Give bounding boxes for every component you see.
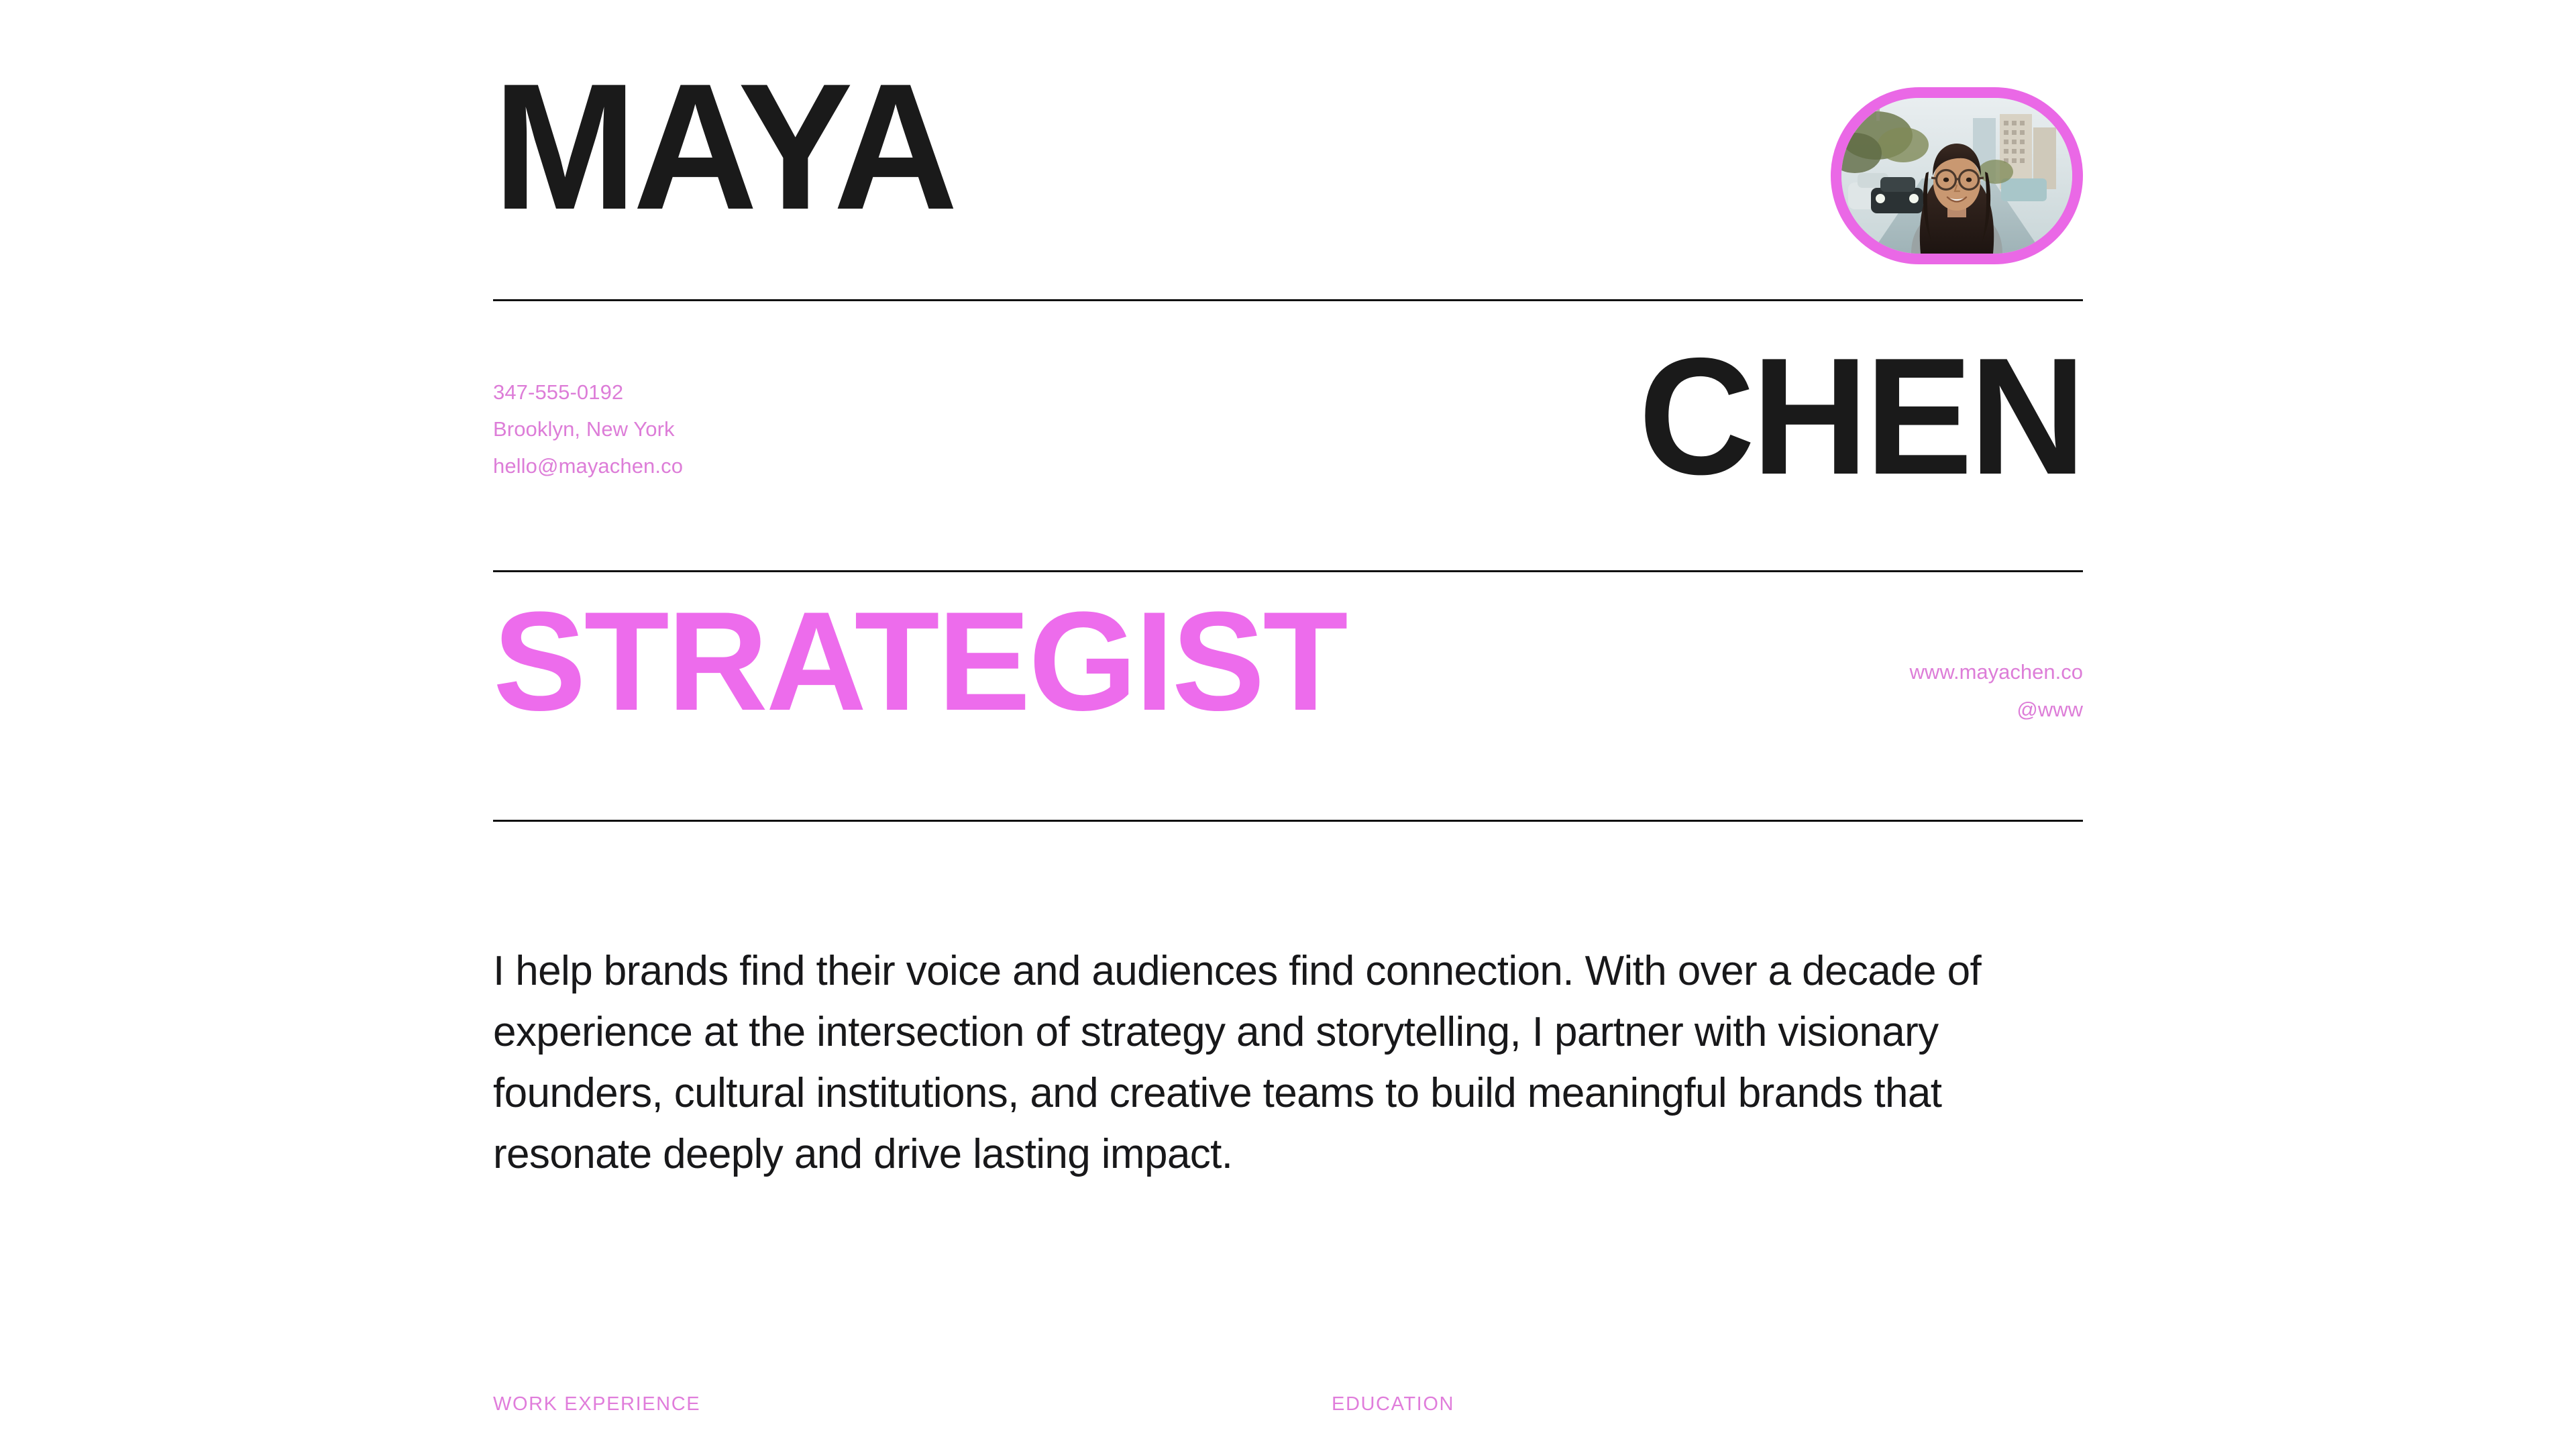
avatar — [1831, 87, 2083, 264]
section-heading-row: WORK EXPERIENCE EDUCATION — [493, 1391, 2083, 1424]
contact-phone[interactable]: 347-555-0192 — [493, 374, 683, 411]
contact-email[interactable]: hello@mayachen.co — [493, 447, 683, 484]
web-links: www.mayachen.co @www — [1910, 653, 2083, 729]
avatar-photo-illustration — [1841, 98, 2072, 254]
page-title-first-name: MAYA — [493, 46, 954, 247]
divider-rule-3 — [493, 820, 2083, 822]
contact-details: 347-555-0192 Brooklyn, New York hello@ma… — [493, 374, 683, 484]
section-heading-work-experience: WORK EXPERIENCE — [493, 1391, 700, 1417]
section-heading-education: EDUCATION — [1332, 1391, 1454, 1417]
resume-page: MAYA — [0, 0, 2576, 1449]
contact-location: Brooklyn, New York — [493, 411, 683, 447]
page-title-last-name: CHEN — [1639, 323, 2083, 508]
header-top-row: MAYA — [493, 71, 2083, 272]
social-handle[interactable]: @www — [1910, 691, 2083, 729]
website-link[interactable]: www.mayachen.co — [1910, 653, 2083, 691]
contact-row: 347-555-0192 Brooklyn, New York hello@ma… — [493, 299, 2083, 570]
profile-summary: I help brands find their voice and audie… — [493, 941, 2093, 1185]
avatar-photo — [1841, 98, 2072, 254]
role-title: STRATEGIST — [493, 581, 1346, 742]
role-row: STRATEGIST www.mayachen.co @www — [493, 570, 2083, 820]
resume-content-column: MAYA — [493, 0, 2083, 1449]
